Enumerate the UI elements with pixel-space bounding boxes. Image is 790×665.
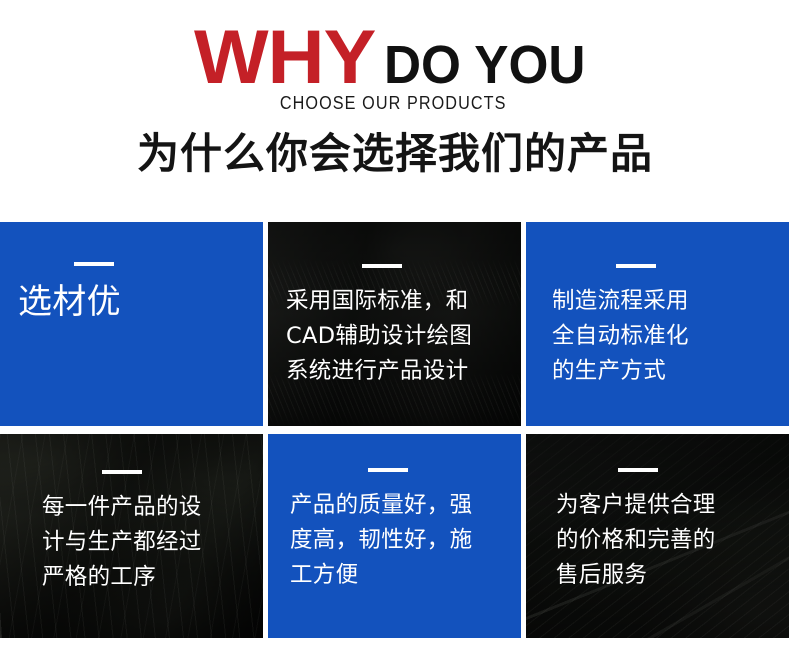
feature-card-text: 为客户提供合理 的价格和完善的 售后服务 [546, 488, 779, 593]
title-highlight-why: WHY [194, 20, 375, 96]
divider-dash-icon [362, 264, 402, 268]
divider-dash-icon [368, 468, 408, 472]
feature-card-text: 产品的质量好，强 度高，韧性好，施 工方便 [276, 488, 511, 593]
feature-card-content: 产品的质量好，强 度高，韧性好，施 工方便 [268, 434, 521, 593]
divider-dash-icon [74, 262, 114, 266]
feature-card-automated-production[interactable]: 制造流程采用 全自动标准化 的生产方式 [526, 222, 789, 426]
feature-card-text: 每一件产品的设 计与生产都经过 严格的工序 [10, 490, 253, 595]
feature-card-material-selection[interactable]: 选材优 [0, 222, 263, 426]
feature-card-price-after-sales[interactable]: 为客户提供合理 的价格和完善的 售后服务 [526, 434, 789, 638]
feature-card-text: 选材优 [10, 280, 253, 324]
feature-card-content: 选材优 [0, 222, 263, 324]
divider-dash-icon [102, 470, 142, 474]
feature-card-quality-strength[interactable]: 产品的质量好，强 度高，韧性好，施 工方便 [268, 434, 521, 638]
subtitle-chinese: 为什么你会选择我们的产品 [0, 128, 790, 180]
why-choose-us-banner: WHY DO YOU CHOOSE OUR PRODUCTS 为什么你会选择我们… [0, 0, 790, 665]
feature-card-text: 制造流程采用 全自动标准化 的生产方式 [552, 284, 779, 389]
feature-card-content: 为客户提供合理 的价格和完善的 售后服务 [526, 434, 789, 593]
divider-dash-icon [618, 468, 658, 472]
feature-card-content: 制造流程采用 全自动标准化 的生产方式 [526, 222, 789, 389]
feature-card-content: 采用国际标准，和 CAD辅助设计绘图 系统进行产品设计 [268, 222, 521, 389]
feature-card-text: 采用国际标准，和 CAD辅助设计绘图 系统进行产品设计 [280, 284, 511, 389]
feature-card-content: 每一件产品的设 计与生产都经过 严格的工序 [0, 434, 263, 595]
feature-card-strict-process[interactable]: 每一件产品的设 计与生产都经过 严格的工序 [0, 434, 263, 638]
divider-dash-icon [616, 264, 656, 268]
banner-header: WHY DO YOU CHOOSE OUR PRODUCTS 为什么你会选择我们… [0, 0, 790, 222]
subtitle-english: CHOOSE OUR PRODUCTS [40, 92, 751, 114]
title-rest-do-you: DO YOU [384, 38, 585, 92]
page-title: WHY DO YOU [0, 20, 790, 100]
feature-card-international-standard-cad[interactable]: 采用国际标准，和 CAD辅助设计绘图 系统进行产品设计 [268, 222, 521, 426]
feature-grid: 选材优 采用国际标准，和 CAD辅助设计绘图 系统进行产品设计 制造流程采用 全… [0, 222, 790, 638]
